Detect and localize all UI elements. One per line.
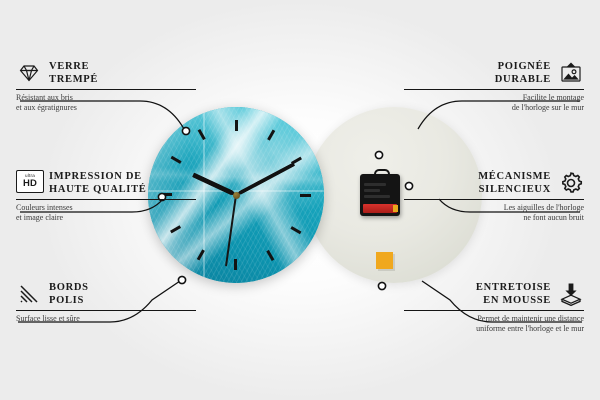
callout-head: BORDSPOLIS xyxy=(16,281,196,307)
callout-title: IMPRESSION DEHAUTE QUALITÉ xyxy=(49,170,147,196)
callout-description: Couleurs intenseset image claire xyxy=(16,203,196,223)
callout-title: MÉCANISMESILENCIEUX xyxy=(478,170,551,196)
callout-divider xyxy=(16,310,196,311)
clock-mechanism xyxy=(360,174,400,216)
mechanism-ridge xyxy=(364,189,380,192)
mechanism-hanger-loop xyxy=(374,169,390,179)
clock-tick xyxy=(236,194,314,196)
callout-divider xyxy=(404,310,584,311)
callout-divider xyxy=(16,89,196,90)
callout-description: Les aiguilles de l'horlogene font aucun … xyxy=(404,203,584,223)
hd-label: HD xyxy=(23,179,37,189)
product-feature-diagram: VERRETREMPÉ Résistant aux briset aux égr… xyxy=(0,0,600,400)
callout-divider xyxy=(404,89,584,90)
callout-verre-trempe[interactable]: VERRETREMPÉ Résistant aux briset aux égr… xyxy=(16,60,196,113)
gear-icon xyxy=(558,170,584,196)
picture-frame-hanger-icon xyxy=(558,60,584,86)
polished-edge-icon xyxy=(16,281,42,307)
callout-head: VERRETREMPÉ xyxy=(16,60,196,86)
battery xyxy=(363,204,397,213)
callout-title: BORDSPOLIS xyxy=(49,281,89,307)
mechanism-ridge xyxy=(364,195,390,198)
callout-description: Résistant aux briset aux égratignures xyxy=(16,93,196,113)
callout-head: ENTRETOISEEN MOUSSE xyxy=(404,281,584,307)
diamond-icon xyxy=(16,60,42,86)
callout-title: ENTRETOISEEN MOUSSE xyxy=(476,281,551,307)
foam-spacer-sample xyxy=(376,252,393,269)
callout-mecanisme-silencieux[interactable]: MÉCANISMESILENCIEUX Les aiguilles de l'h… xyxy=(404,170,584,223)
ultra-hd-badge-icon: ultra HD xyxy=(16,170,42,196)
clock-tick xyxy=(235,117,237,195)
callout-description: Facilite le montagede l'horloge sur le m… xyxy=(404,93,584,113)
callout-head: ultra HD IMPRESSION DEHAUTE QUALITÉ xyxy=(16,170,196,196)
battery-terminal xyxy=(393,205,398,212)
callout-description: Permet de maintenir une distanceuniforme… xyxy=(404,314,584,334)
callout-divider xyxy=(404,199,584,200)
callout-head: POIGNÉEDURABLE xyxy=(404,60,584,86)
hands-center-cap xyxy=(233,192,240,199)
mechanism-ridge xyxy=(364,183,386,186)
callout-entretoise-en-mousse[interactable]: ENTRETOISEEN MOUSSE Permet de maintenir … xyxy=(404,281,584,334)
leader-dot-entretoise xyxy=(378,282,385,289)
callout-divider xyxy=(16,199,196,200)
callout-bords-polis[interactable]: BORDSPOLIS Surface lisse et sûre xyxy=(16,281,196,324)
callout-description: Surface lisse et sûre xyxy=(16,314,196,324)
foam-spacer-press-icon xyxy=(558,281,584,307)
callout-title: POIGNÉEDURABLE xyxy=(495,60,551,86)
callout-impression-haute-qualite[interactable]: ultra HD IMPRESSION DEHAUTE QUALITÉ Coul… xyxy=(16,170,196,223)
callout-title: VERRETREMPÉ xyxy=(49,60,98,86)
callout-poignee-durable[interactable]: POIGNÉEDURABLE Facilite le montagede l'h… xyxy=(404,60,584,113)
callout-head: MÉCANISMESILENCIEUX xyxy=(404,170,584,196)
